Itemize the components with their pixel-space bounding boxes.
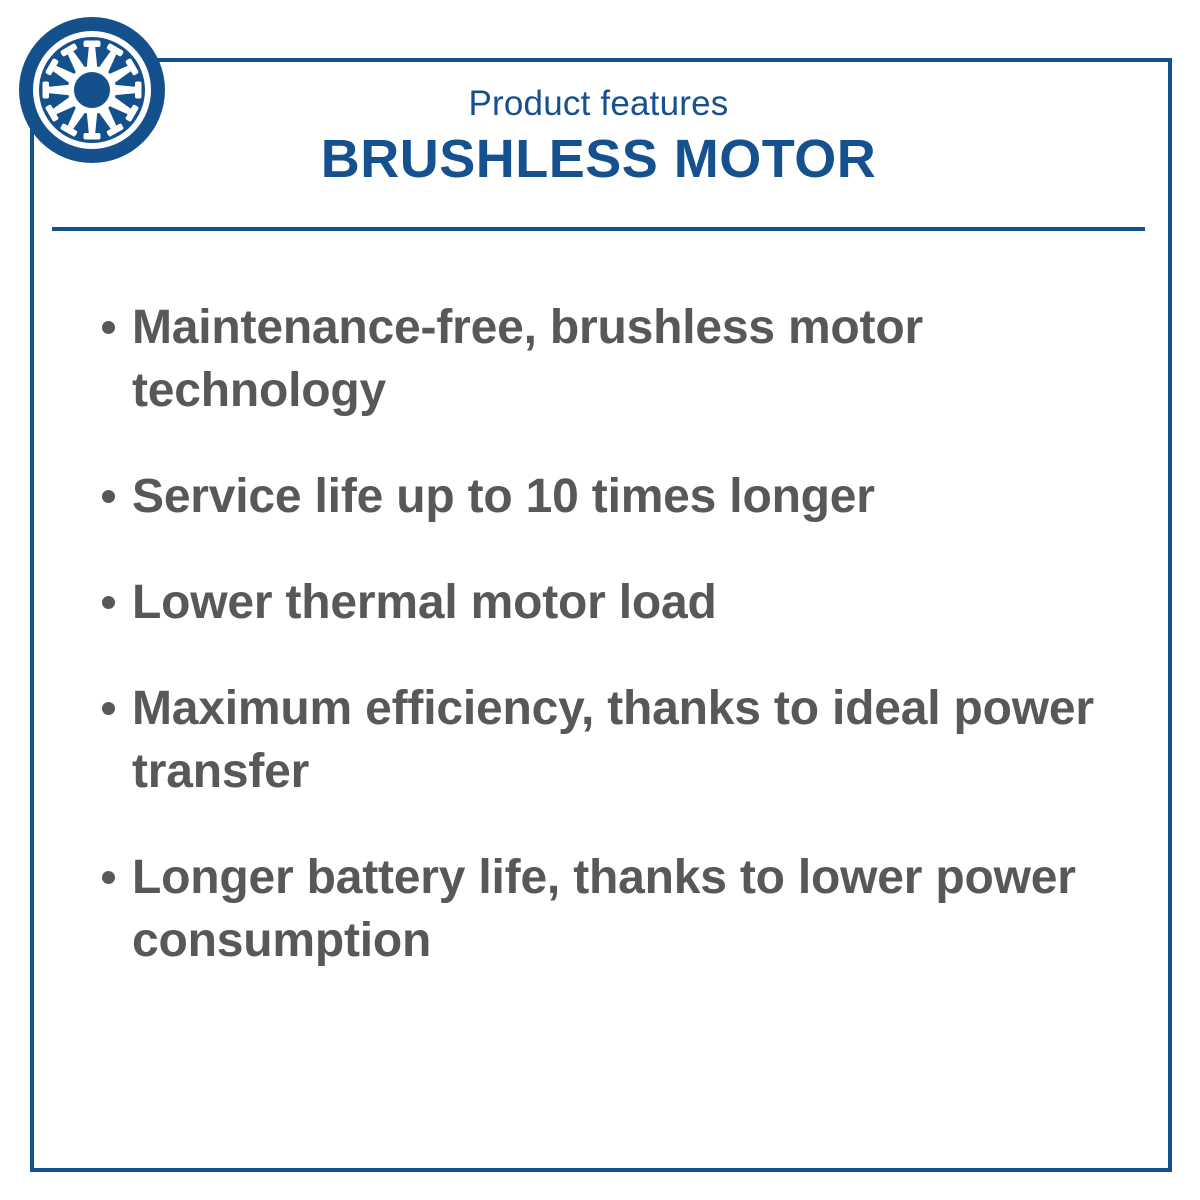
bullet-dot-icon [102, 321, 115, 334]
list-item: Longer battery life, thanks to lower pow… [96, 846, 1106, 972]
list-item: Service life up to 10 times longer [96, 465, 1106, 528]
feature-text: Service life up to 10 times longer [132, 465, 1106, 528]
brushless-rotor-icon [18, 16, 166, 164]
list-item: Maximum efficiency, thanks to ideal powe… [96, 677, 1106, 803]
header-divider [52, 227, 1145, 231]
product-feature-card: Product features BRUSHLESS MOTOR Mainten… [0, 0, 1200, 1200]
feature-text: Lower thermal motor load [132, 571, 1106, 634]
bullet-dot-icon [102, 596, 115, 609]
bullet-dot-icon [102, 702, 115, 715]
bullet-dot-icon [102, 490, 115, 503]
card-header: Product features BRUSHLESS MOTOR [52, 82, 1145, 190]
feature-list: Maintenance-free, brushless motor techno… [96, 296, 1106, 972]
feature-text: Longer battery life, thanks to lower pow… [132, 846, 1106, 972]
eyebrow-label: Product features [52, 82, 1145, 126]
bullet-dot-icon [102, 871, 115, 884]
list-item: Maintenance-free, brushless motor techno… [96, 296, 1106, 422]
feature-text: Maintenance-free, brushless motor techno… [132, 296, 1106, 422]
page-title: BRUSHLESS MOTOR [52, 128, 1145, 190]
feature-text: Maximum efficiency, thanks to ideal powe… [132, 677, 1106, 803]
list-item: Lower thermal motor load [96, 571, 1106, 634]
